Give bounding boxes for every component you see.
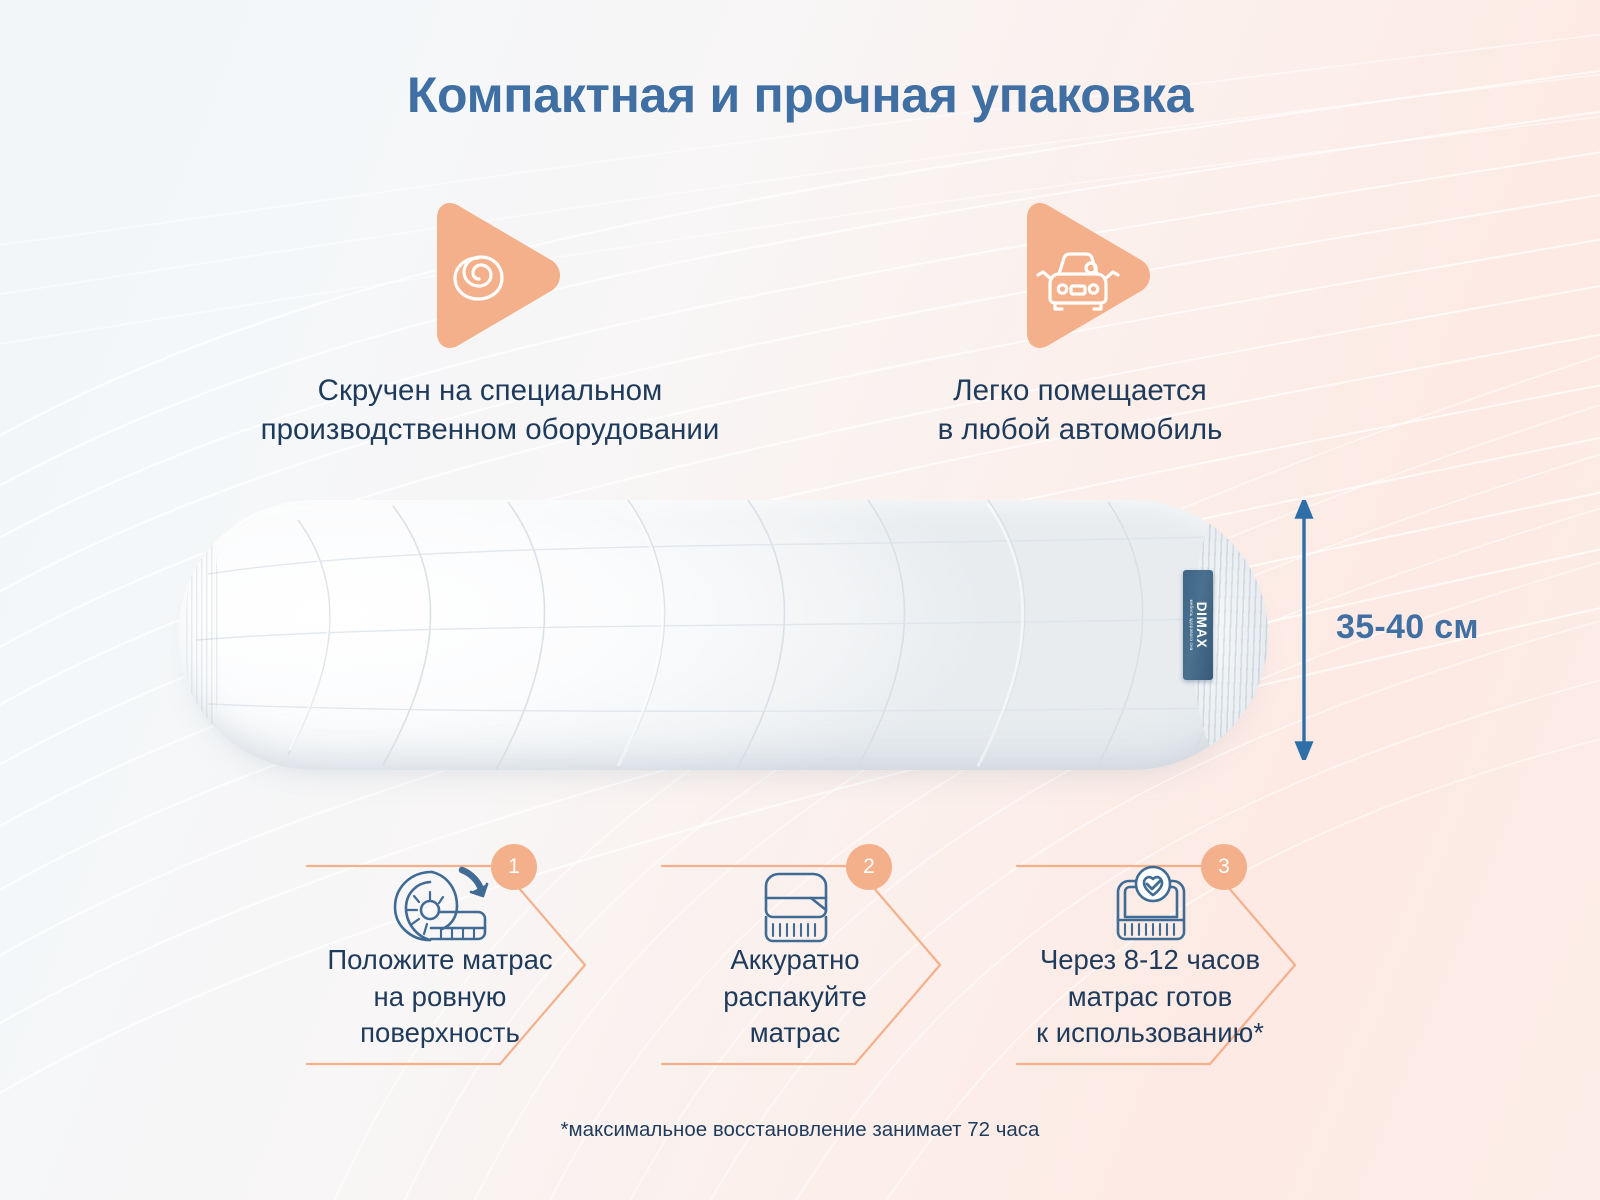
step-1: 1 <box>295 840 655 1090</box>
feature-1-caption: Скручен на специальном производственном … <box>175 371 805 449</box>
step-2: 2 <box>650 840 1010 1090</box>
feature-block-car: Легко помещается в любой автомобиль <box>830 195 1330 449</box>
step-3-icon-wrap <box>1005 862 1295 950</box>
feature-2-icon-wrap <box>830 195 1330 355</box>
feature-2-caption: Легко помещается в любой автомобиль <box>830 371 1330 449</box>
dimension-label: 35-40 см <box>1336 608 1479 647</box>
play-triangle-1 <box>415 198 565 353</box>
footnote: *максимальное восстановление занимает 72… <box>0 1118 1600 1142</box>
brand-tag-text: DIMAX мебель здорового сна <box>1188 599 1208 650</box>
mattress-roll-left-texture <box>186 514 220 754</box>
step-1-text: Положите матрас на ровную поверхность <box>287 942 593 1052</box>
step-3: 3 <box>1005 840 1365 1090</box>
height-dimension-arrow <box>1286 500 1322 760</box>
mattress-quilt-pattern: DIMAX мебель здорового сна <box>178 500 1268 770</box>
brand-tag: DIMAX мебель здорового сна <box>1183 570 1213 680</box>
brand-tagline: мебель здорового сна <box>1188 599 1193 650</box>
mattress-ready-check-icon <box>1096 862 1204 950</box>
rolled-mattress-image: DIMAX мебель здорового сна <box>178 500 1268 770</box>
unroll-mattress-icon <box>386 862 494 950</box>
play-triangle-2 <box>1005 198 1155 353</box>
page-title: Компактная и прочная упаковка <box>0 66 1600 124</box>
steps-row: 1 <box>0 840 1600 1100</box>
step-1-icon-wrap <box>295 862 585 950</box>
unpack-mattress-icon <box>741 862 849 950</box>
feature-block-rolled: Скручен на специальном производственном … <box>175 195 805 449</box>
step-2-text: Аккуратно распакуйте матрас <box>642 942 948 1052</box>
brand-name: DIMAX <box>1194 602 1209 649</box>
step-3-text: Через 8-12 часов матрас готов к использо… <box>997 942 1303 1052</box>
feature-1-icon-wrap <box>175 195 805 355</box>
step-2-icon-wrap <box>650 862 940 950</box>
infographic-canvas: Компактная и прочная упаковка Скручен на… <box>0 0 1600 1200</box>
